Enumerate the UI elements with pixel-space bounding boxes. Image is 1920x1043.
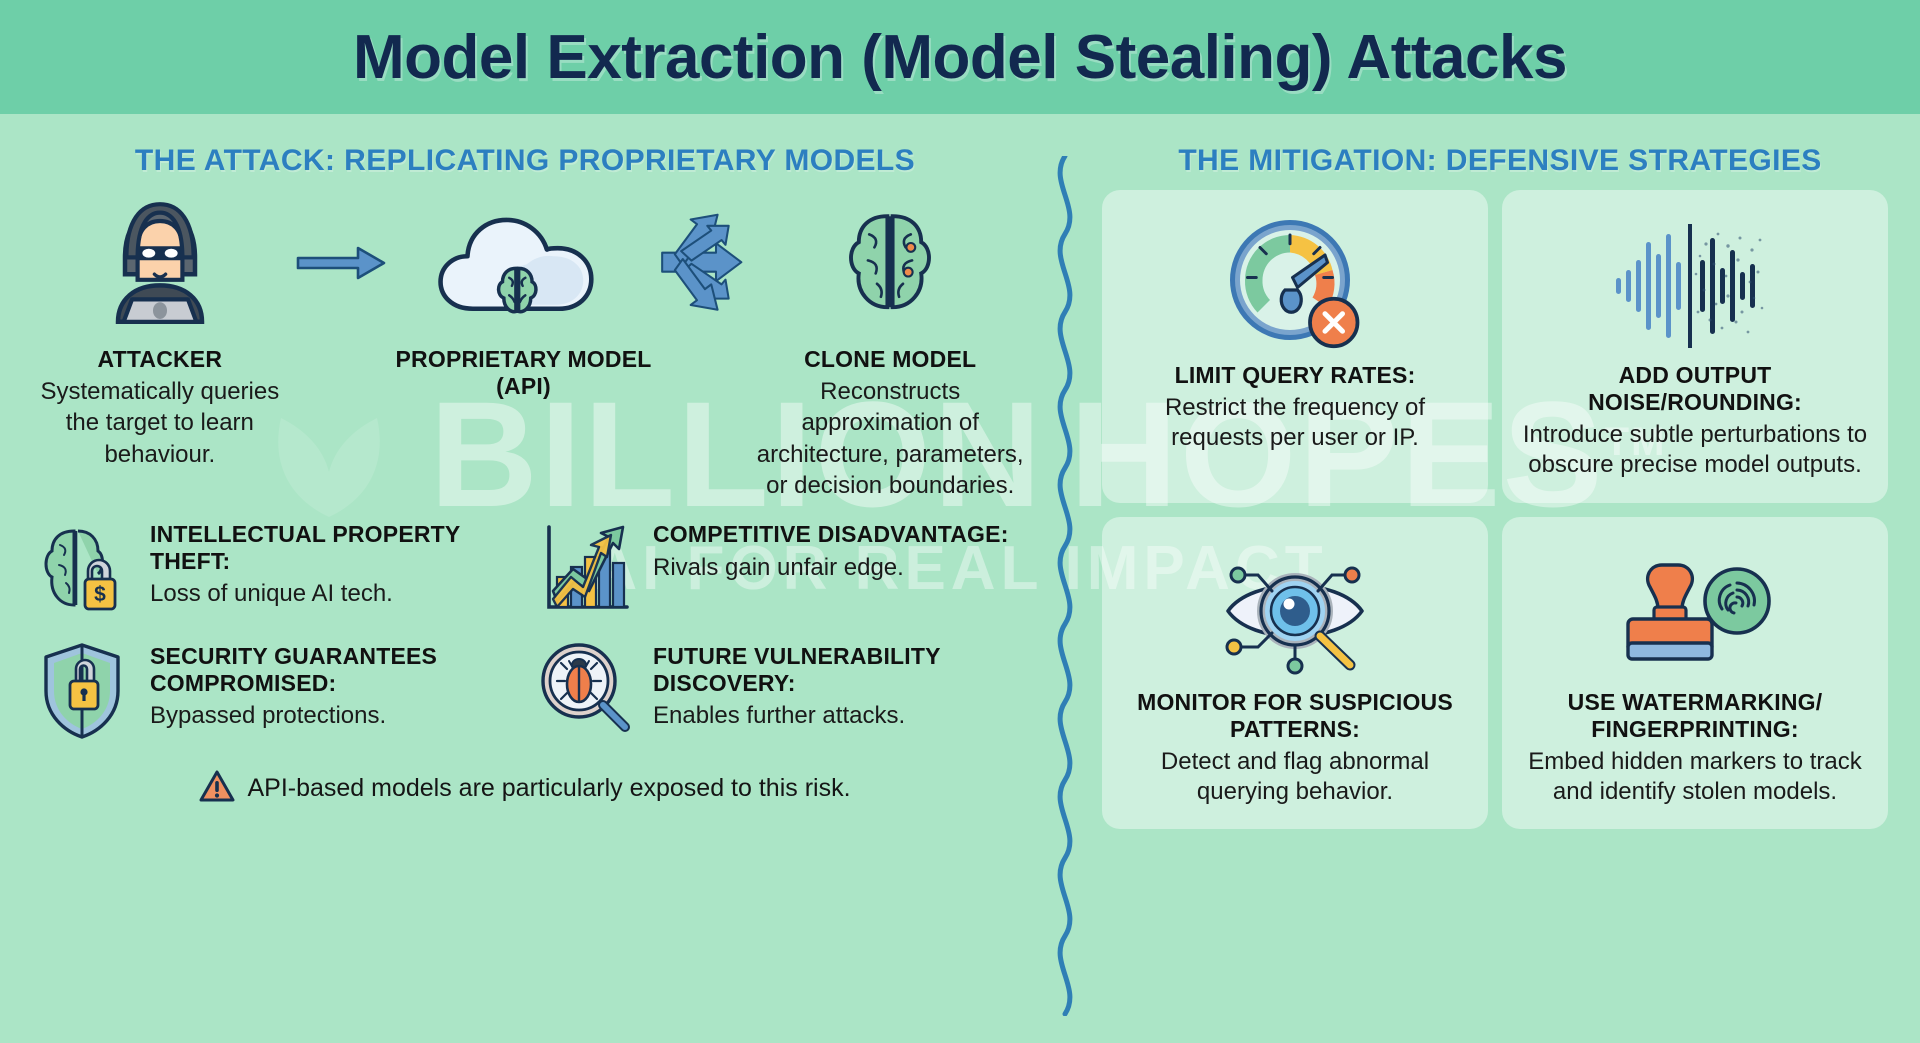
impact-future-vulnerability: FUTURE VULNERABILITY DISCOVERY: Enables … — [531, 637, 1022, 745]
impact-security-compromised: SECURITY GUARANTEES COMPROMISED: Bypasse… — [28, 637, 519, 745]
card-desc-monitor-suspicious-patterns: Detect and flag abnormal querying behavi… — [1120, 747, 1470, 807]
impact-head-future-vuln: FUTURE VULNERABILITY DISCOVERY: — [653, 643, 1022, 696]
flow-desc-attacker: Systematically queries the target to lea… — [24, 376, 296, 470]
impact-competitive-disadvantage: COMPETITIVE DISADVANTAGE: Rivals gain un… — [531, 515, 1022, 623]
card-head-monitor-suspicious-patterns: MONITOR FOR SUSPICIOUS PATTERNS: — [1120, 689, 1470, 743]
impact-text-future-vuln: FUTURE VULNERABILITY DISCOVERY: Enables … — [653, 637, 1022, 731]
card-desc-limit-query-rates: Restrict the frequency of requests per u… — [1120, 393, 1470, 453]
attack-section-title: THE ATTACK: REPLICATING PROPRIETARY MODE… — [0, 114, 1050, 178]
mitigation-section-title: THE MITIGATION: DEFENSIVE STRATEGIES — [1080, 114, 1920, 178]
impact-row-1: $ INTELLECTUAL PROPERTY THEFT: Loss of u… — [0, 515, 1050, 623]
magnifier-bug-icon — [531, 637, 639, 745]
impact-head-ip-theft: INTELLECTUAL PROPERTY THEFT: — [150, 521, 519, 574]
page-title: Model Extraction (Model Stealing) Attack… — [353, 22, 1567, 93]
svg-text:$: $ — [94, 583, 106, 606]
flow-desc-clone-model: Reconstructs approximation of architectu… — [754, 376, 1026, 501]
impact-head-competitive: COMPETITIVE DISADVANTAGE: — [653, 521, 1009, 548]
wavy-divider — [1050, 114, 1080, 1043]
impact-head-security: SECURITY GUARANTEES COMPROMISED: — [150, 643, 519, 696]
card-use-watermarking[interactable]: USE WATERMARKING/ FINGERPRINTING: Embed … — [1502, 517, 1888, 830]
impact-desc-future-vuln: Enables further attacks. — [653, 702, 1022, 731]
impact-desc-competitive: Rivals gain unfair edge. — [653, 554, 1009, 583]
attack-flow: ATTACKER Systematically queries the targ… — [0, 178, 1050, 501]
hacker-icon — [75, 188, 245, 338]
speedometer-block-icon — [1220, 210, 1370, 360]
flow-item-clone-model: CLONE MODEL Reconstructs approximation o… — [754, 188, 1026, 501]
impact-row-2: SECURITY GUARANTEES COMPROMISED: Bypasse… — [0, 637, 1050, 745]
cloud-brain-icon — [429, 188, 619, 338]
attack-column: THE ATTACK: REPLICATING PROPRIETARY MODE… — [0, 114, 1050, 1043]
multi-arrow-burst-icon — [659, 188, 754, 338]
card-limit-query-rates[interactable]: LIMIT QUERY RATES: Restrict the frequenc… — [1102, 190, 1488, 503]
broken-shield-lock-icon — [28, 637, 136, 745]
flow-item-proprietary-model: PROPRIETARY MODEL (API) — [388, 188, 660, 403]
impact-text-ip-theft: INTELLECTUAL PROPERTY THEFT: Loss of uni… — [150, 515, 519, 609]
warning-triangle-icon — [199, 769, 235, 808]
flow-head-attacker: ATTACKER — [97, 346, 222, 373]
card-desc-use-watermarking: Embed hidden markers to track and identi… — [1520, 747, 1870, 807]
footnote-text: API-based models are particularly expose… — [247, 774, 850, 803]
impact-text-competitive: COMPETITIVE DISADVANTAGE: Rivals gain un… — [653, 515, 1009, 582]
impact-desc-security: Bypassed protections. — [150, 702, 519, 731]
flow-item-attacker: ATTACKER Systematically queries the targ… — [24, 188, 296, 470]
impact-desc-ip-theft: Loss of unique AI tech. — [150, 580, 519, 609]
stamp-fingerprint-icon — [1610, 537, 1780, 687]
mitigation-column: THE MITIGATION: DEFENSIVE STRATEGIES — [1080, 114, 1920, 1043]
mitigation-cards-grid: LIMIT QUERY RATES: Restrict the frequenc… — [1080, 178, 1920, 829]
brain-lock-dollar-icon: $ — [28, 515, 136, 623]
footnote: API-based models are particularly expose… — [0, 769, 1050, 808]
impact-text-security: SECURITY GUARANTEES COMPROMISED: Bypasse… — [150, 637, 519, 731]
card-monitor-suspicious-patterns[interactable]: MONITOR FOR SUSPICIOUS PATTERNS: Detect … — [1102, 517, 1488, 830]
clone-brain-icon — [820, 188, 960, 338]
header-band: Model Extraction (Model Stealing) Attack… — [0, 0, 1920, 114]
flow-head-proprietary-model: PROPRIETARY MODEL (API) — [388, 346, 660, 400]
card-head-add-output-noise: ADD OUTPUT NOISE/ROUNDING: — [1520, 362, 1870, 416]
card-head-use-watermarking: USE WATERMARKING/ FINGERPRINTING: — [1520, 689, 1870, 743]
impact-ip-theft: $ INTELLECTUAL PROPERTY THEFT: Loss of u… — [28, 515, 519, 623]
card-add-output-noise[interactable]: ADD OUTPUT NOISE/ROUNDING: Introduce sub… — [1502, 190, 1888, 503]
rising-chart-icon — [531, 515, 639, 623]
monitoring-eye-icon — [1210, 537, 1380, 687]
content-area: THE ATTACK: REPLICATING PROPRIETARY MODE… — [0, 114, 1920, 1043]
waveform-noise-icon — [1610, 210, 1780, 360]
card-desc-add-output-noise: Introduce subtle perturbations to obscur… — [1520, 420, 1870, 480]
flow-head-clone-model: CLONE MODEL — [804, 346, 976, 373]
arrow-right-icon — [296, 188, 388, 338]
card-head-limit-query-rates: LIMIT QUERY RATES: — [1175, 362, 1416, 389]
